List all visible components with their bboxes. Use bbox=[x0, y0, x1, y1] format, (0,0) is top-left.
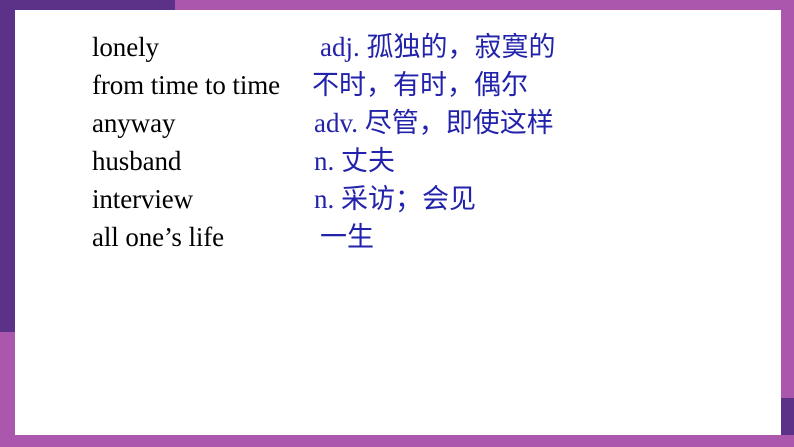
vocabulary-row: husband n. 丈夫 bbox=[92, 142, 780, 180]
vocabulary-row: interview n. 采访；会见 bbox=[92, 180, 780, 218]
frame-bar-top-light bbox=[175, 0, 794, 10]
frame-bar-right-light bbox=[781, 0, 794, 398]
vocabulary-term: interview bbox=[92, 180, 312, 218]
frame-bar-bottom bbox=[0, 435, 794, 447]
vocabulary-term: from time to time bbox=[92, 66, 312, 104]
vocabulary-row: lonely adj. 孤独的，寂寞的 bbox=[92, 28, 780, 66]
frame-bar-left-dark bbox=[0, 0, 15, 332]
vocabulary-meaning: 不时，有时，偶尔 bbox=[312, 66, 780, 104]
vocabulary-meaning: 一生 bbox=[312, 218, 780, 256]
vocabulary-term: anyway bbox=[92, 104, 312, 142]
frame-bar-left-light bbox=[0, 332, 15, 447]
frame-bar-top-dark bbox=[0, 0, 175, 10]
slide-content-area: lonely adj. 孤独的，寂寞的 from time to time 不时… bbox=[16, 11, 780, 434]
vocabulary-term: husband bbox=[92, 142, 312, 180]
vocabulary-row: anyway adv. 尽管，即使这样 bbox=[92, 104, 780, 142]
vocabulary-row: all one’s life 一生 bbox=[92, 218, 780, 256]
vocabulary-list: lonely adj. 孤独的，寂寞的 from time to time 不时… bbox=[92, 28, 780, 256]
vocabulary-meaning: adj. 孤独的，寂寞的 bbox=[312, 28, 780, 66]
vocabulary-row: from time to time 不时，有时，偶尔 bbox=[92, 66, 780, 104]
slide-canvas: lonely adj. 孤独的，寂寞的 from time to time 不时… bbox=[0, 0, 794, 447]
vocabulary-meaning: adv. 尽管，即使这样 bbox=[312, 104, 780, 142]
vocabulary-term: lonely bbox=[92, 28, 312, 66]
vocabulary-meaning: n. 采访；会见 bbox=[312, 180, 780, 218]
vocabulary-term: all one’s life bbox=[92, 218, 312, 256]
vocabulary-meaning: n. 丈夫 bbox=[312, 142, 780, 180]
